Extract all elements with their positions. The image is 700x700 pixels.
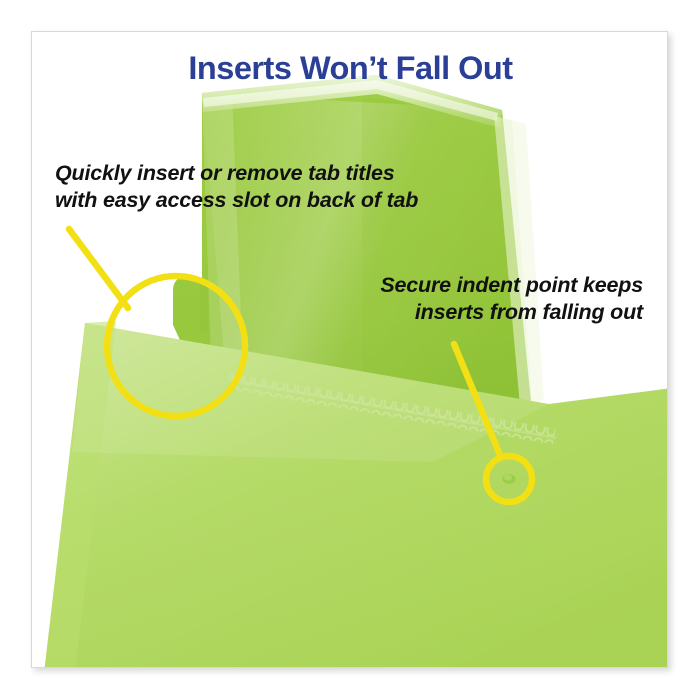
page-title: Inserts Won’t Fall Out (32, 50, 668, 87)
indent-point (503, 474, 516, 484)
screenshot-root: Inserts Won’t Fall Out Quickly insert or… (0, 0, 700, 700)
callout-indent-point: Secure indent point keeps inserts from f… (380, 272, 643, 326)
divider-body-sheet (43, 321, 668, 668)
callout-access-slot: Quickly insert or remove tab titles with… (55, 160, 418, 214)
product-photo (32, 32, 668, 668)
product-image-card: Inserts Won’t Fall Out Quickly insert or… (31, 31, 668, 668)
